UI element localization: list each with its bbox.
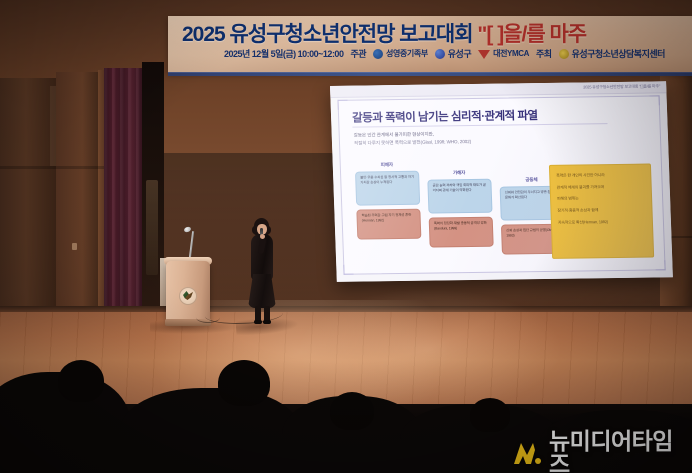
bird-emblem-icon xyxy=(559,49,569,59)
slide-columns: 피해자 불안·우울·수치심 등 정서적 고통과 자기 가치감 손상이 누적된다 … xyxy=(355,159,655,266)
banner-title-quote-close: ]을/를 마주 xyxy=(497,23,586,46)
victim-red-box: 학습된 무력감·고립 자기 정체성 혼란(Herman, 1992) xyxy=(356,209,421,240)
audience-silhouette xyxy=(470,398,510,432)
triangle-emblem-icon xyxy=(478,49,490,59)
highlight-line-1: 폭력은 한 개인의 사건만 아니라 xyxy=(556,172,644,179)
organizer-org-label: 유성구청소년상담복지센터 xyxy=(572,47,665,60)
wall-notch xyxy=(50,86,56,166)
newmedia-n-logo-icon xyxy=(512,441,542,465)
highlight-line-2: 관계적 체계의 붕괴를 가져오며 xyxy=(557,183,645,190)
audience-silhouette xyxy=(330,392,374,430)
presenter xyxy=(245,218,279,326)
column-header-victim: 피해자 xyxy=(355,162,419,169)
banner-host-label: 주관 xyxy=(350,47,366,60)
slide-corner-br-icon xyxy=(655,260,665,270)
host-org-1: 성영중기족부 xyxy=(373,48,428,59)
presentation-slide: 2025 유성구청소년안전망 보고대회 "[ ]을/를 마주" 갈등과 폭력이 … xyxy=(330,81,673,282)
circle-emblem-icon xyxy=(373,49,383,59)
presenter-hand xyxy=(260,234,265,239)
cluster-emblem-icon xyxy=(435,49,445,59)
banner-title: 2025 유성구청소년안전망 보고대회 "[ ]을/를 마주 xyxy=(182,18,586,48)
banner-bottom-strip xyxy=(168,72,692,76)
audience-silhouette xyxy=(58,360,104,402)
slide-corner-tl-icon xyxy=(337,100,347,110)
host-org-1-label: 성영중기족부 xyxy=(386,48,428,59)
host-org-2: 유성구 xyxy=(435,47,471,60)
banner-datetime: 2025년 12월 5일(금) 10:00~12:00 xyxy=(224,47,343,60)
slide-highlight-panel: 폭력은 한 개인의 사건만 아니라 관계적 체계의 붕괴를 가져오며 피해의 범… xyxy=(549,164,654,259)
organizer-org: 유성구청소년상담복지센터 xyxy=(559,47,665,60)
slide-column-victim: 피해자 불안·우울·수치심 등 정서적 고통과 자기 가치감 손상이 누적된다 … xyxy=(355,162,422,244)
host-org-3: 대전YMCA xyxy=(478,48,529,59)
highlight-line-5: 지속적으로 확산(Herman, 1992) xyxy=(558,218,646,225)
projection-screen: 2025 유성구청소년안전망 보고대회 "[ ]을/를 마주" 갈등과 폭력이 … xyxy=(330,81,673,282)
presenter-shoe-left xyxy=(254,320,262,324)
column-header-perpetrator: 가해자 xyxy=(427,170,491,177)
banner-subtitle-row: 2025년 12월 5일(금) 10:00~12:00 주관 성영중기족부 유성… xyxy=(224,47,665,60)
backstage-object xyxy=(146,180,158,275)
perpetrator-red-box: 폭력의 정당화·재발 충동적 공격성 강화(Bandura, 1999) xyxy=(429,217,494,248)
slide-lead-text: 갈등은 인간 관계에서 불가피한 현상이지만, 적절히 다루지 못하면 폭력으로… xyxy=(354,130,472,147)
host-org-3-label: 대전YMCA xyxy=(493,48,529,59)
slide-title: 갈등과 폭력이 남기는 심리적·관계적 파열 xyxy=(352,107,538,126)
victim-blue-box: 불안·우울·수치심 등 정서적 고통과 자기 가치감 손상이 누적된다 xyxy=(355,171,420,206)
watermark-text: 뉴미디어타임즈 xyxy=(549,430,692,473)
event-banner: 2025 유성구청소년안전망 보고대회 "[ ]을/를 마주 2025년 12월… xyxy=(168,16,692,73)
banner-title-quote-open: "[ xyxy=(477,23,492,46)
slide-content-frame: 갈등과 폭력이 남기는 심리적·관계적 파열 갈등은 인간 관계에서 불가피한 … xyxy=(337,95,665,274)
banner-title-main: 2025 유성구청소년안전망 보고대회 xyxy=(182,23,473,46)
highlight-line-4: 장기적·중층적 손상과 함께 xyxy=(557,207,645,214)
microphone-cable-segment xyxy=(196,312,220,323)
host-org-2-label: 유성구 xyxy=(448,47,471,60)
slide-corner-tr-icon xyxy=(650,95,660,105)
banner-organizer-label: 주최 xyxy=(536,47,552,60)
slide-lead-line-2: 적절히 다루지 못하면 폭력으로 발전(Glasl, 1998; WHO, 20… xyxy=(354,138,471,147)
audience-silhouette xyxy=(218,360,270,406)
slide-column-perpetrator: 가해자 공감 능력 저하와 책임 회피적 태도가 굳어지며 관계 기술이 약화된… xyxy=(427,170,494,252)
audience-silhouette xyxy=(120,388,300,473)
wall-switch-plate xyxy=(72,243,77,250)
watermark: 뉴미디어타임즈 xyxy=(512,430,692,473)
slide-header-right: 2025 유성구청소년안전망 보고대회 "[ ]을/를 마주" xyxy=(583,83,660,90)
slide-corner-bl-icon xyxy=(343,265,353,275)
presenter-shoe-right xyxy=(263,320,271,324)
perpetrator-blue-box: 공감 능력 저하와 책임 회피적 태도가 굳어지며 관계 기술이 약화된다 xyxy=(427,179,492,214)
photo-canvas: 2025 유성구청소년안전망 보고대회 "[ ]을/를 마주 2025년 12월… xyxy=(0,0,692,473)
wall-seam-line xyxy=(0,166,106,169)
organization-crest-icon xyxy=(179,287,197,305)
highlight-line-3: 피해의 범위는 xyxy=(557,195,645,202)
